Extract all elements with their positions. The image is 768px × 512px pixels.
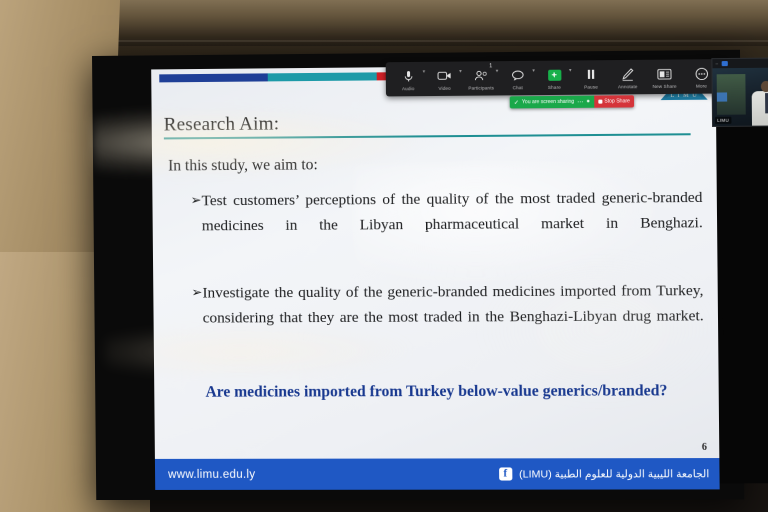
microphone-icon (403, 68, 412, 85)
participants-icon (474, 67, 488, 84)
footer-website-url: www.limu.edu.ly (168, 468, 255, 480)
toolbar-annotate-button[interactable]: Annotate (609, 60, 646, 95)
slide-title-area: Research Aim: (164, 110, 701, 139)
chat-icon (511, 66, 524, 83)
share-screen-icon: + (548, 66, 561, 83)
toolbar-label: Share (548, 84, 561, 89)
more-ellipsis-icon (695, 65, 708, 82)
list-item: ➢ Investigate the quality of the generic… (191, 279, 704, 356)
television-display: الجامعة الليبية الدولية للعلوم الطبية Li… (92, 50, 744, 500)
arrow-bullet-icon: ➢ (190, 189, 202, 263)
slide-footer-bar: www.limu.edu.ly f الجامعة الليبية الدولي… (155, 458, 720, 490)
toolbar-label: New Share (652, 83, 676, 88)
bullet-list: ➢ Test customers’ perceptions of the qua… (190, 186, 704, 374)
page-title: Research Aim: (164, 110, 701, 137)
chevron-down-icon[interactable]: ▾ (569, 68, 572, 74)
screen-sharing-status-strip[interactable]: ✓ You are screen sharing ⋯ ● Stop Share (510, 95, 634, 108)
toolbar-share-button[interactable]: + ▾ Share (536, 60, 573, 95)
stop-square-icon (598, 100, 602, 104)
chevron-down-icon[interactable]: ▾ (459, 69, 462, 75)
footer-social-block: f الجامعة الليبية الدولية للعلوم الطبية … (499, 467, 710, 480)
toolbar-label: Audio (402, 86, 414, 91)
toolbar-label: Video (438, 85, 450, 90)
toolbar-label: Participants (468, 85, 494, 90)
zoom-toolbar[interactable]: ▾ Audio ▾ Video 1 ▾ Participants (386, 59, 724, 96)
arrow-bullet-icon: ➢ (191, 281, 203, 355)
toolbar-chat-button[interactable]: ▾ Chat (499, 61, 536, 96)
list-item: ➢ Test customers’ perceptions of the qua… (190, 186, 703, 264)
bullet-text: Test customers’ perceptions of the quali… (201, 186, 703, 264)
share-green-box: + (548, 69, 561, 80)
facebook-icon: f (499, 467, 512, 480)
toolbar-new-share-button[interactable]: New Share (646, 59, 683, 94)
photo-scene: الجامعة الليبية الدولية للعلوم الطبية Li… (0, 0, 768, 512)
presentation-slide: الجامعة الليبية الدولية للعلوم الطبية Li… (151, 64, 719, 490)
record-dot-icon[interactable]: ● (586, 99, 590, 105)
toolbar-pause-button[interactable]: Pause (572, 60, 609, 95)
video-thumbnail-titlebar[interactable]: – (712, 58, 768, 68)
video-feed: LIMU (712, 67, 768, 126)
chevron-down-icon[interactable]: ▾ (496, 68, 499, 74)
stop-share-label: Stop Share (604, 98, 630, 104)
pencil-icon (621, 65, 633, 82)
meeting-controls-icon[interactable]: ⋯ (577, 98, 583, 105)
chevron-down-icon[interactable]: ▾ (532, 68, 535, 74)
accent-bar-blue (159, 73, 268, 82)
sharing-status-text: You are screen sharing (522, 99, 574, 106)
video-background-screen (717, 92, 727, 101)
footer-arabic-handle: الجامعة الليبية الدولية للعلوم الطبية (L… (519, 468, 709, 480)
accent-bar-teal (268, 72, 377, 81)
new-share-icon (657, 65, 671, 82)
toolbar-label: Chat (513, 85, 523, 90)
plus-icon: + (552, 70, 557, 79)
toolbar-label: Annotate (618, 84, 638, 89)
check-icon: ✓ (514, 99, 519, 106)
participants-count-badge: 1 (489, 63, 492, 69)
participant-name-label: LIMU (715, 117, 731, 124)
research-question-text: Are medicines imported from Turkey below… (188, 381, 685, 402)
speaker-head (761, 81, 768, 92)
participant-video-thumbnail[interactable]: – LIMU (711, 57, 768, 127)
stop-share-button[interactable]: Stop Share (594, 95, 634, 107)
toolbar-participants-button[interactable]: 1 ▾ Participants (463, 61, 500, 96)
sharing-indicator: ✓ You are screen sharing ⋯ ● (510, 96, 595, 109)
slide-lead-in-text: In this study, we aim to: (168, 156, 318, 175)
chevron-down-icon[interactable]: ▾ (423, 69, 426, 75)
camera-icon (437, 67, 451, 84)
view-layout-icon[interactable] (721, 61, 727, 66)
toolbar-label: Pause (584, 84, 598, 89)
slide-page-number: 6 (702, 442, 707, 453)
toolbar-label: More (696, 83, 707, 88)
toolbar-audio-button[interactable]: ▾ Audio (390, 62, 427, 97)
minimize-icon[interactable]: – (715, 61, 718, 66)
bullet-text: Investigate the quality of the generic-b… (202, 279, 704, 356)
pause-icon (586, 66, 596, 83)
toolbar-video-button[interactable]: ▾ Video (426, 62, 463, 97)
screen-dark-right-area (716, 126, 768, 483)
